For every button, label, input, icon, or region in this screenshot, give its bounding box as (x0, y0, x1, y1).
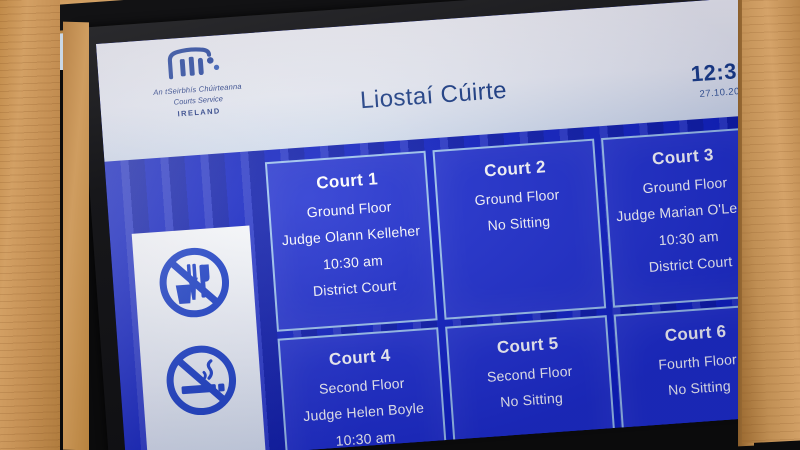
no-food-drink-icon (153, 241, 236, 324)
harp-logo-icon (158, 44, 234, 83)
court-card: Court 2 Ground Floor No Sitting (433, 139, 606, 320)
no-smoking-icon (160, 339, 243, 422)
court-time: 10:30 am (322, 253, 383, 273)
court-name: Court 4 (328, 346, 391, 370)
court-floor: Fourth Floor (658, 352, 738, 373)
court-judge: No Sitting (500, 391, 564, 411)
court-judge: No Sitting (668, 379, 732, 399)
court-judge: Judge Helen Boyle (303, 401, 425, 425)
court-judge: Judge Olann Kelleher (281, 224, 420, 249)
court-judge: No Sitting (487, 214, 551, 234)
wood-frame-left (0, 0, 60, 450)
court-card: Court 5 Second Floor No Sitting (445, 315, 618, 450)
court-floor: Ground Floor (642, 175, 728, 196)
court-time: 10:30 am (335, 429, 396, 449)
court-type: District Court (313, 278, 398, 299)
court-list-grid: Court 1 Ground Floor Judge Olann Kellehe… (265, 127, 782, 450)
court-floor: Second Floor (319, 376, 406, 397)
wood-frame-right (742, 0, 800, 444)
court-name: Court 5 (496, 334, 559, 358)
court-name: Court 2 (484, 157, 547, 181)
court-time: 10:30 am (658, 229, 719, 249)
prohibition-info-panel (132, 225, 266, 450)
court-name: Court 1 (316, 169, 379, 193)
court-name: Court 6 (664, 322, 727, 346)
wood-frame-left-inner (63, 22, 89, 450)
court-floor: Ground Floor (306, 199, 392, 220)
court-card: Court 1 Ground Floor Judge Olann Kellehe… (265, 151, 438, 332)
court-floor: Ground Floor (474, 187, 560, 208)
court-list-display-screen: An tSeirbhís Chúirteanna Courts Service … (96, 0, 790, 450)
court-card: Court 4 Second Floor Judge Helen Boyle 1… (278, 327, 451, 450)
court-floor: Second Floor (486, 364, 573, 385)
photo-scene: Coronavirus COVID-19 (0, 0, 800, 450)
court-judge: Judge Marian O'Leary (616, 200, 758, 225)
court-name: Court 3 (651, 145, 714, 169)
court-type: District Court (648, 254, 733, 275)
